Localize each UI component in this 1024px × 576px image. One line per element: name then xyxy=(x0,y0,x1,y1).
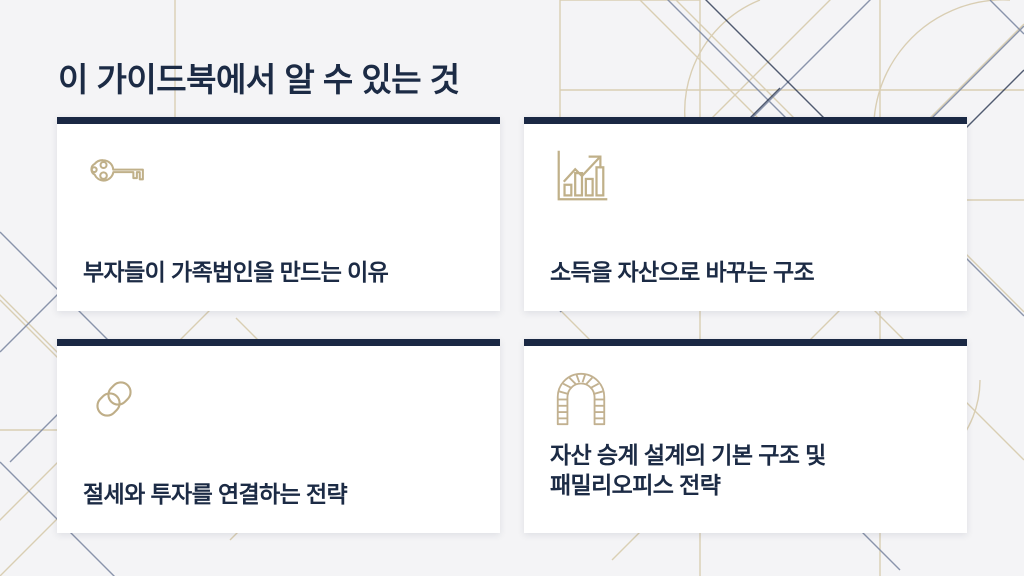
topic-card-grid: 부자들이 가족법인을 만드는 이유 xyxy=(57,117,967,537)
key-icon xyxy=(83,146,145,208)
card-accent-bar xyxy=(57,117,500,124)
slide-root: 이 가이드북에서 알 수 있는 것 부자들이 가족법 xyxy=(0,0,1024,576)
topic-card-3[interactable]: 절세와 투자를 연결하는 전략 xyxy=(57,339,500,533)
card-accent-bar xyxy=(524,339,967,346)
card-title-line: 패밀리오피스 전략 xyxy=(550,470,941,500)
card-title: 소득을 자산으로 바꾸는 구조 xyxy=(550,257,941,291)
arch-icon xyxy=(550,368,612,430)
topic-card-2[interactable]: 소득을 자산으로 바꾸는 구조 xyxy=(524,117,967,311)
topic-card-1[interactable]: 부자들이 가족법인을 만드는 이유 xyxy=(57,117,500,311)
page-title: 이 가이드북에서 알 수 있는 것 xyxy=(58,53,460,101)
card-title: 부자들이 가족법인을 만드는 이유 xyxy=(83,257,474,291)
topic-card-4[interactable]: 자산 승계 설계의 기본 구조 및 패밀리오피스 전략 xyxy=(524,339,967,533)
card-title-line: 소득을 자산으로 바꾸는 구조 xyxy=(550,257,941,287)
card-title: 절세와 투자를 연결하는 전략 xyxy=(83,479,474,513)
card-accent-bar xyxy=(524,117,967,124)
card-title-line: 자산 승계 설계의 기본 구조 및 xyxy=(550,440,941,470)
card-body: 소득을 자산으로 바꾸는 구조 xyxy=(524,124,967,311)
card-body: 자산 승계 설계의 기본 구조 및 패밀리오피스 전략 xyxy=(524,346,967,533)
card-title: 자산 승계 설계의 기본 구조 및 패밀리오피스 전략 xyxy=(550,440,941,505)
card-accent-bar xyxy=(57,339,500,346)
card-body: 절세와 투자를 연결하는 전략 xyxy=(57,346,500,533)
card-title-line: 절세와 투자를 연결하는 전략 xyxy=(83,479,474,509)
card-title-line: 부자들이 가족법인을 만드는 이유 xyxy=(83,257,474,287)
growth-chart-icon xyxy=(550,146,612,208)
card-body: 부자들이 가족법인을 만드는 이유 xyxy=(57,124,500,311)
chain-link-icon xyxy=(83,368,145,430)
